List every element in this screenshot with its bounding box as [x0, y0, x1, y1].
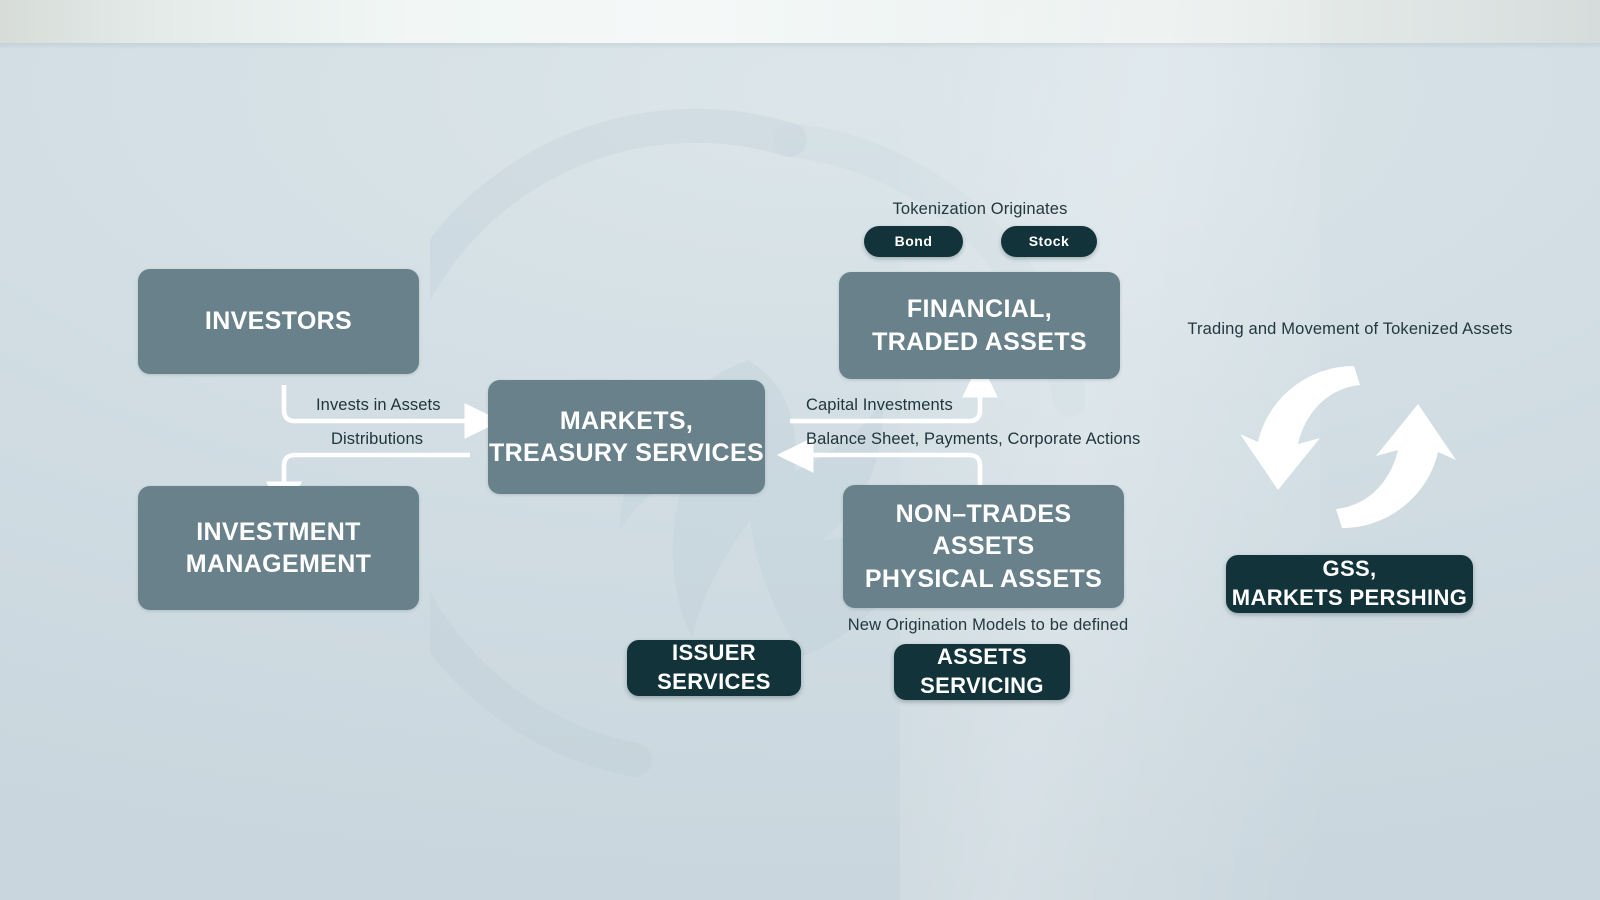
node-financial-line-1: FINANCIAL, — [872, 293, 1087, 326]
top-light-band — [0, 0, 1600, 43]
caption-trading-and-movement: Trading and Movement of Tokenized Assets — [1187, 320, 1512, 339]
node-issuer-services-line-1: ISSUER — [657, 639, 771, 668]
edge-label-invests-in-assets: Invests in Assets — [316, 396, 441, 415]
node-gss-line-2: MARKETS PERSHING — [1232, 584, 1467, 613]
node-investors-line-1: INVESTORS — [205, 305, 352, 338]
diagram-canvas: Tokenization Originates New Origination … — [0, 0, 1600, 900]
node-markets-line-1: MARKETS, — [489, 405, 764, 438]
node-financial-line-2: TRADED ASSETS — [872, 326, 1087, 359]
pill-bond-label: Bond — [895, 232, 933, 250]
node-non-trades-line-1: NON–TRADES ASSETS — [843, 498, 1124, 563]
caption-new-origination-models: New Origination Models to be defined — [848, 616, 1129, 635]
node-issuer-services[interactable]: ISSUER SERVICES — [627, 640, 801, 696]
node-assets-servicing-line-2: SERVICING — [920, 672, 1044, 701]
edge-label-balance-sheet: Balance Sheet, Payments, Corporate Actio… — [806, 430, 1140, 449]
node-markets-line-2: TREASURY SERVICES — [489, 437, 764, 470]
node-non-trades-line-2: PHYSICAL ASSETS — [843, 563, 1124, 596]
pill-bond[interactable]: Bond — [864, 226, 963, 257]
node-assets-servicing-line-1: ASSETS — [920, 643, 1044, 672]
pill-stock-label: Stock — [1029, 232, 1070, 250]
node-markets-treasury-services[interactable]: MARKETS, TREASURY SERVICES — [488, 380, 765, 494]
node-financial-traded-assets[interactable]: FINANCIAL, TRADED ASSETS — [839, 272, 1120, 379]
node-investment-management[interactable]: INVESTMENT MANAGEMENT — [138, 486, 419, 610]
node-gss-markets-pershing[interactable]: GSS, MARKETS PERSHING — [1226, 555, 1473, 613]
cycle-arrows-icon — [1228, 352, 1468, 542]
edge-label-distributions: Distributions — [331, 430, 423, 449]
pill-stock[interactable]: Stock — [1001, 226, 1097, 257]
node-investment-management-line-2: MANAGEMENT — [186, 548, 371, 581]
node-gss-line-1: GSS, — [1232, 555, 1467, 584]
node-assets-servicing[interactable]: ASSETS SERVICING — [894, 644, 1070, 700]
edge-label-capital-investments: Capital Investments — [806, 396, 953, 415]
caption-tokenization-originates: Tokenization Originates — [893, 200, 1068, 219]
node-investors[interactable]: INVESTORS — [138, 269, 419, 374]
node-investment-management-line-1: INVESTMENT — [186, 516, 371, 549]
node-issuer-services-line-2: SERVICES — [657, 668, 771, 697]
top-band-shadow — [0, 43, 1600, 49]
node-non-trades-physical-assets[interactable]: NON–TRADES ASSETS PHYSICAL ASSETS — [843, 485, 1124, 608]
